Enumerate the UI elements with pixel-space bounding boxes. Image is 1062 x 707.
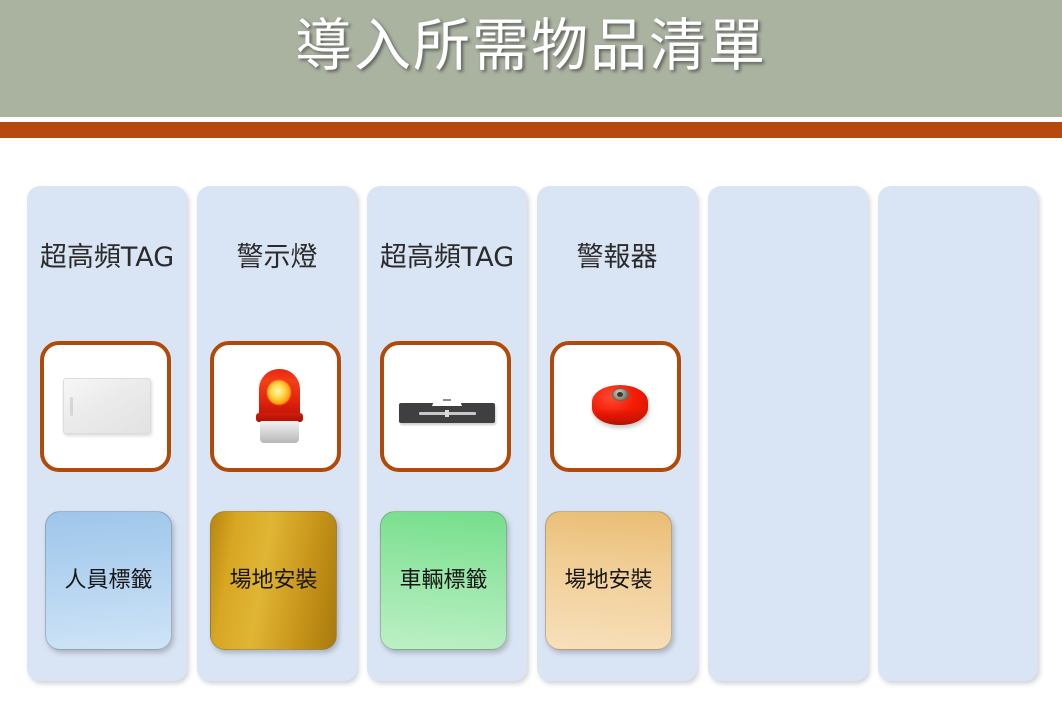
item-card-4-title: 警報器	[537, 241, 697, 275]
beacon-base	[260, 421, 299, 443]
item-card-3[interactable]: 超高頻TAG 車輛標籤	[367, 186, 527, 681]
rotating-beacon-light-icon	[214, 345, 337, 468]
item-card-1-label: 人員標籤	[64, 568, 152, 594]
windshield-tag-chip	[443, 399, 451, 401]
item-card-4-label: 場地安裝	[564, 568, 652, 594]
rfid-card-slot	[70, 397, 73, 416]
item-card-1[interactable]: 超高頻TAG 人員標籤	[27, 186, 187, 681]
item-card-3-title: 超高頻TAG	[367, 241, 527, 275]
item-card-5-empty[interactable]	[708, 186, 868, 681]
item-card-2-label: 場地安裝	[229, 568, 317, 594]
item-card-1-label-box[interactable]: 人員標籤	[45, 511, 172, 650]
item-card-3-label-box[interactable]: 車輛標籤	[380, 511, 507, 650]
item-card-row: 超高頻TAG 人員標籤 警示燈	[0, 186, 1062, 681]
windshield-tag-antenna-center	[445, 410, 449, 417]
alarm-bell-icon	[554, 345, 677, 468]
item-card-3-image-frame	[380, 341, 511, 472]
item-card-2-image-frame	[210, 341, 341, 472]
beacon-graphic	[255, 369, 304, 447]
alarm-bell-striker-core	[617, 392, 623, 397]
alarm-bell-rim	[596, 409, 644, 425]
item-card-3-label: 車輛標籤	[399, 568, 487, 594]
rfid-card-body	[63, 378, 151, 434]
rfid-white-card-icon	[44, 345, 167, 468]
item-card-1-image-frame	[40, 341, 171, 472]
item-card-2[interactable]: 警示燈 場地安裝	[197, 186, 357, 681]
alarm-bell-graphic	[592, 383, 648, 431]
item-card-4-image-frame	[550, 341, 681, 472]
item-card-2-label-box[interactable]: 場地安裝	[210, 511, 337, 650]
slide-root: 導入所需物品清單 超高頻TAG 人員標籤 警示燈	[0, 0, 1062, 707]
item-card-1-title: 超高頻TAG	[27, 241, 187, 275]
beacon-bulb-glow	[267, 380, 291, 405]
header-accent-rule	[0, 122, 1062, 138]
item-card-4-label-box[interactable]: 場地安裝	[545, 511, 672, 650]
rfid-windshield-tag-icon	[384, 345, 507, 468]
item-card-6-empty[interactable]	[878, 186, 1038, 681]
item-card-2-title: 警示燈	[197, 241, 357, 275]
windshield-tag-graphic	[399, 397, 495, 423]
item-card-4[interactable]: 警報器 場地安裝	[537, 186, 697, 681]
page-title: 導入所需物品清單	[0, 6, 1062, 86]
